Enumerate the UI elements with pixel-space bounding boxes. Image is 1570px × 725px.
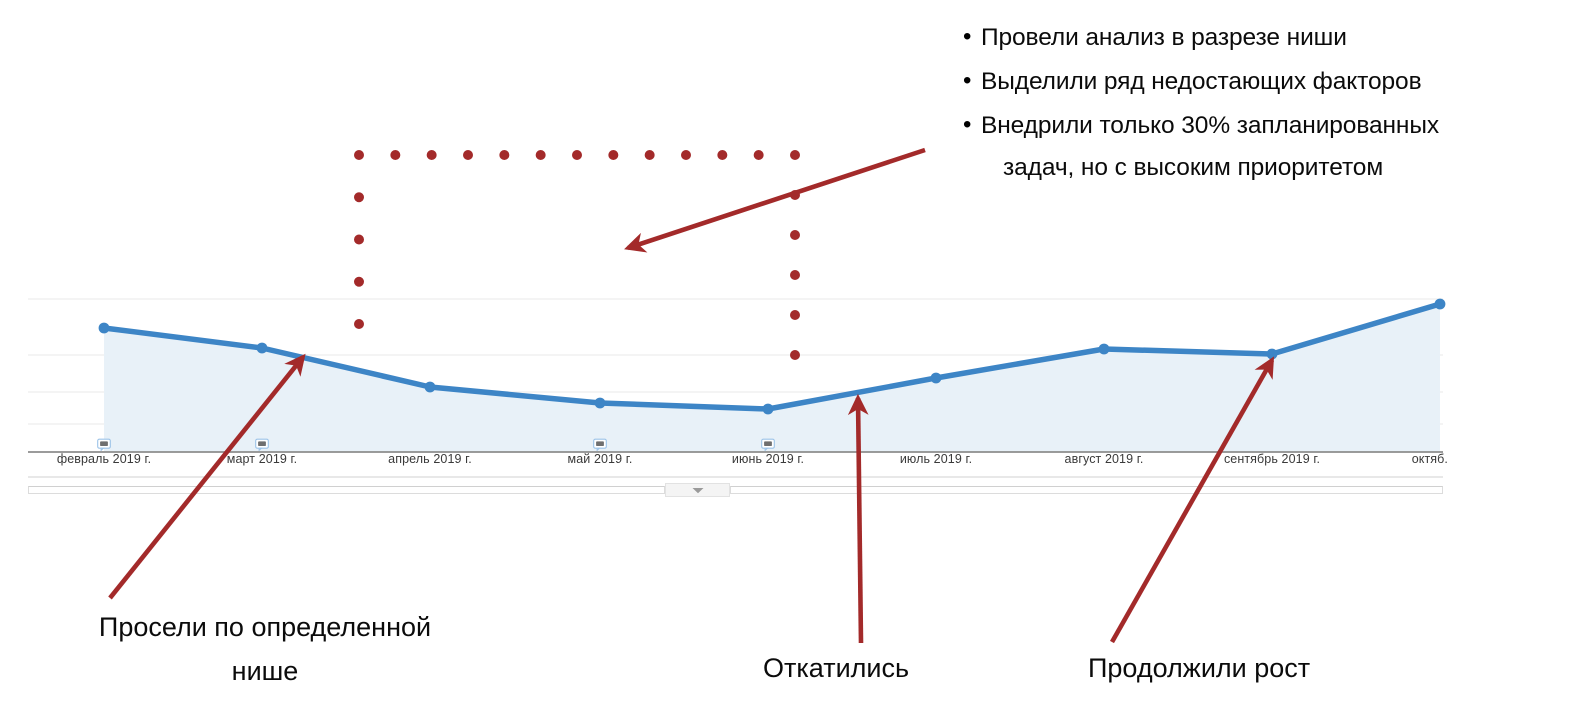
bullet-item: •Внедрили только 30% запланированныхзада… — [963, 110, 1563, 184]
bullet-item-label-continued: задач, но с высоким приоритетом — [981, 152, 1439, 184]
highlight-dot — [354, 150, 364, 160]
highlight-dot — [427, 150, 437, 160]
bullet-point-icon: • — [963, 22, 981, 52]
comment-marker-icon[interactable] — [761, 438, 776, 451]
highlight-dot — [354, 277, 364, 287]
highlight-dot — [608, 150, 618, 160]
highlight-dot — [790, 270, 800, 280]
scrollbar-track-right[interactable] — [730, 486, 1443, 494]
data-point-marker[interactable] — [425, 382, 436, 393]
bullet-list: •Провели анализ в разрезе ниши•Выделили … — [963, 22, 1563, 196]
comment-marker-icon[interactable] — [97, 438, 112, 451]
highlight-dot — [681, 150, 691, 160]
bullet-item: •Провели анализ в разрезе ниши — [963, 22, 1563, 54]
bullet-point-icon: • — [963, 66, 981, 96]
x-axis-tick-label: август 2019 г. — [1065, 452, 1144, 466]
bullet-item-label: Выделили ряд недостающих факторов — [981, 66, 1422, 98]
chevron-down-icon[interactable] — [665, 483, 730, 497]
highlight-dot — [790, 150, 800, 160]
callout-rollback: Откатились — [763, 646, 909, 690]
x-axis-tick-label: апрель 2019 г. — [388, 452, 472, 466]
highlight-dot — [754, 150, 764, 160]
data-point-marker[interactable] — [595, 398, 606, 409]
horizontal-scrollbar[interactable] — [28, 483, 1443, 496]
x-axis-tick-label: июнь 2019 г. — [732, 452, 804, 466]
highlight-dot — [717, 150, 727, 160]
data-point-marker[interactable] — [99, 323, 110, 334]
x-axis-tick-label: сентябрь 2019 г. — [1224, 452, 1320, 466]
x-axis-tick-label: март 2019 г. — [227, 452, 297, 466]
data-point-marker[interactable] — [257, 343, 268, 354]
highlight-dot — [645, 150, 655, 160]
scrollbar-track-left[interactable] — [28, 486, 665, 494]
highlight-dot — [499, 150, 509, 160]
x-axis-tick-label: июль 2019 г. — [900, 452, 972, 466]
data-point-marker[interactable] — [1267, 349, 1278, 360]
callout-growth: Продолжили рост — [1088, 646, 1310, 690]
bullet-point-icon: • — [963, 110, 981, 140]
data-point-marker[interactable] — [763, 404, 774, 415]
arrow-to-highlight — [628, 150, 925, 248]
data-point-marker[interactable] — [931, 373, 942, 384]
highlight-dot — [354, 192, 364, 202]
slide-canvas: февраль 2019 г.март 2019 г.апрель 2019 г… — [0, 0, 1570, 725]
x-axis-tick-label: февраль 2019 г. — [57, 452, 151, 466]
x-axis-tick-label: октяб. — [1412, 452, 1448, 466]
highlight-dot — [572, 150, 582, 160]
line-chart[interactable]: февраль 2019 г.март 2019 г.апрель 2019 г… — [0, 292, 1460, 497]
data-point-marker[interactable] — [1099, 344, 1110, 355]
callout-decline-line2: нише — [55, 649, 475, 693]
highlight-dot — [790, 230, 800, 240]
bullet-item-label: Внедрили только 30% запланированныхзадач… — [981, 110, 1439, 184]
bullet-item-label: Провели анализ в разрезе ниши — [981, 22, 1347, 54]
highlight-dot — [390, 150, 400, 160]
bullet-item: •Выделили ряд недостающих факторов — [963, 66, 1563, 98]
highlight-dot — [790, 190, 800, 200]
highlight-dot — [354, 235, 364, 245]
comment-marker-icon[interactable] — [593, 438, 608, 451]
highlight-dot — [536, 150, 546, 160]
highlight-dot — [463, 150, 473, 160]
callout-decline: Просели по определенной нише — [55, 605, 475, 693]
data-point-marker[interactable] — [1435, 299, 1446, 310]
callout-decline-line1: Просели по определенной — [99, 612, 431, 642]
x-axis-labels: февраль 2019 г.март 2019 г.апрель 2019 г… — [0, 452, 1460, 476]
comment-marker-icon[interactable] — [255, 438, 270, 451]
x-axis-tick-label: май 2019 г. — [568, 452, 633, 466]
